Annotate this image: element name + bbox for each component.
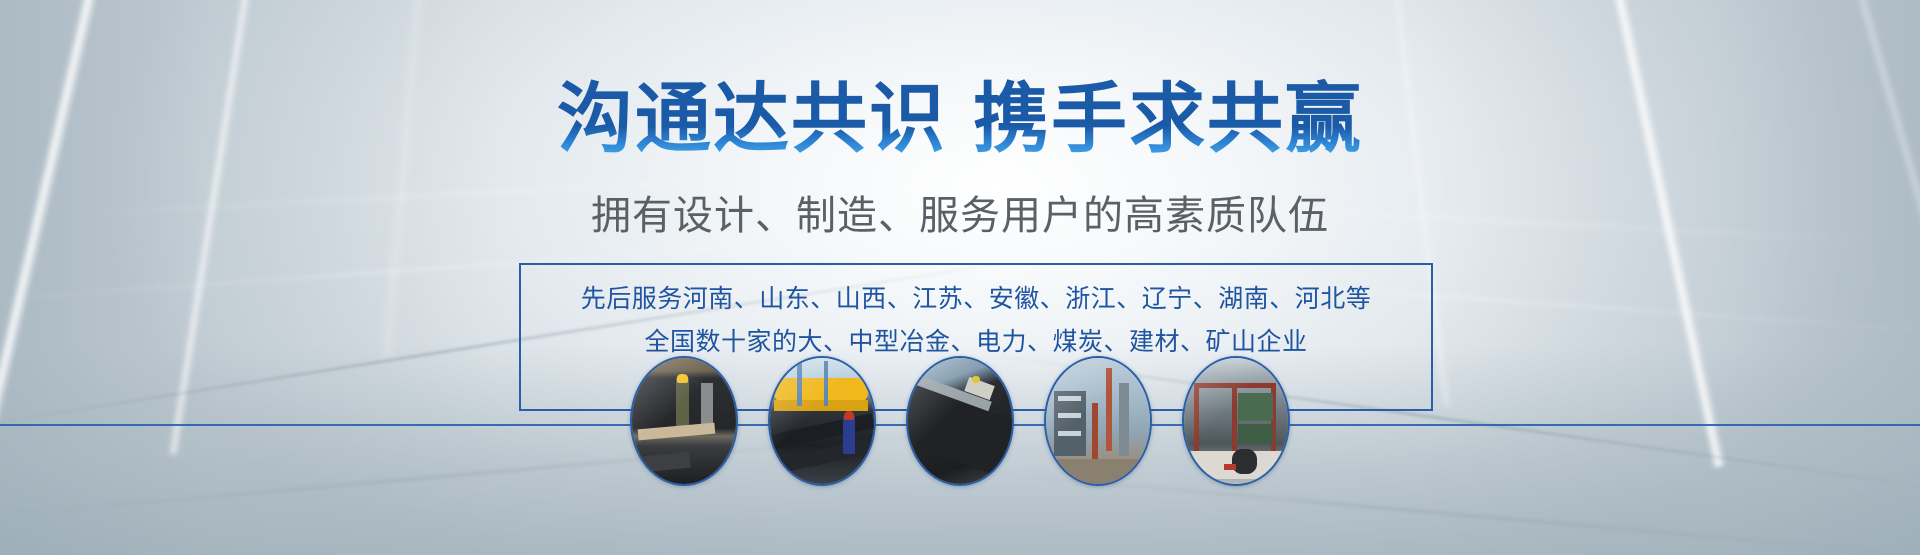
- photo-gloss: [1184, 358, 1288, 484]
- photo-gloss: [908, 358, 1012, 484]
- photo-yellow-tank-pipes[interactable]: [768, 356, 876, 486]
- photo-strip: [630, 356, 1290, 488]
- banner-headline: 沟通达共识携手求共赢: [0, 82, 1920, 158]
- banner-subtitle: 拥有设计、制造、服务用户的高素质队伍: [0, 196, 1920, 236]
- photo-worker-steel-plate[interactable]: [630, 356, 738, 486]
- info-line-1: 先后服务河南、山东、山西、江苏、安徽、浙江、辽宁、湖南、河北等: [519, 278, 1433, 321]
- headline-part-1: 沟通达共识: [557, 77, 947, 162]
- photo-industrial-plant[interactable]: [1044, 356, 1152, 486]
- promo-banner: 沟通达共识携手求共赢 拥有设计、制造、服务用户的高素质队伍 先后服务河南、山东、…: [0, 0, 1920, 555]
- headline-part-2: 携手求共赢: [973, 77, 1363, 162]
- photo-tilted-plate-stack[interactable]: [906, 356, 1014, 486]
- photo-red-steel-frame[interactable]: [1182, 356, 1290, 486]
- info-box-text: 先后服务河南、山东、山西、江苏、安徽、浙江、辽宁、湖南、河北等 全国数十家的大、…: [519, 278, 1433, 364]
- photo-gloss: [632, 358, 736, 484]
- photo-gloss: [1046, 358, 1150, 484]
- photo-gloss: [770, 358, 874, 484]
